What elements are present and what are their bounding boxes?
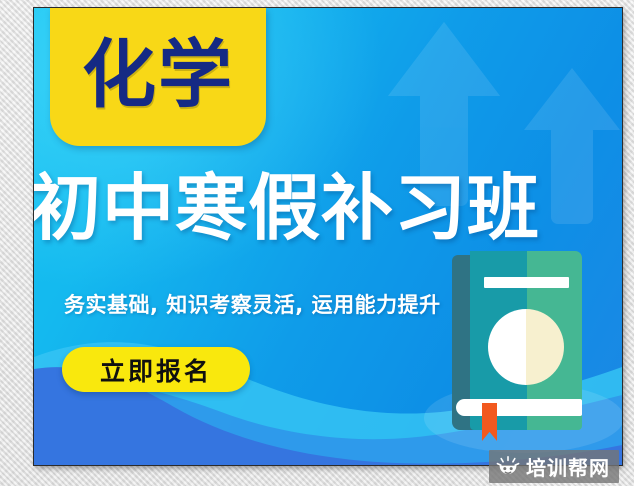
book-pages xyxy=(456,399,582,416)
page-title: 初中寒假补习班 xyxy=(34,170,609,246)
book-title-bar xyxy=(484,277,569,288)
watermark-label: 培训帮网 xyxy=(526,452,610,481)
subject-badge-label: 化学 xyxy=(82,38,234,112)
subject-badge: 化学 xyxy=(50,8,266,146)
subtitle: 务实基础, 知识考察灵活, 运用能力提升 xyxy=(64,289,441,319)
promotional-banner: 化学 初中寒假补习班 务实基础, 知识考察灵活, 运用能力提升 立即报名 xyxy=(34,8,622,465)
sun-face-icon xyxy=(496,456,520,478)
enroll-now-button[interactable]: 立即报名 xyxy=(62,347,250,392)
book-icon xyxy=(452,251,582,433)
watermark: 培训帮网 xyxy=(489,450,619,483)
page-frame: 化学 初中寒假补习班 务实基础, 知识考察灵活, 运用能力提升 立即报名 xyxy=(0,0,634,486)
enroll-now-button-label: 立即报名 xyxy=(100,352,212,388)
